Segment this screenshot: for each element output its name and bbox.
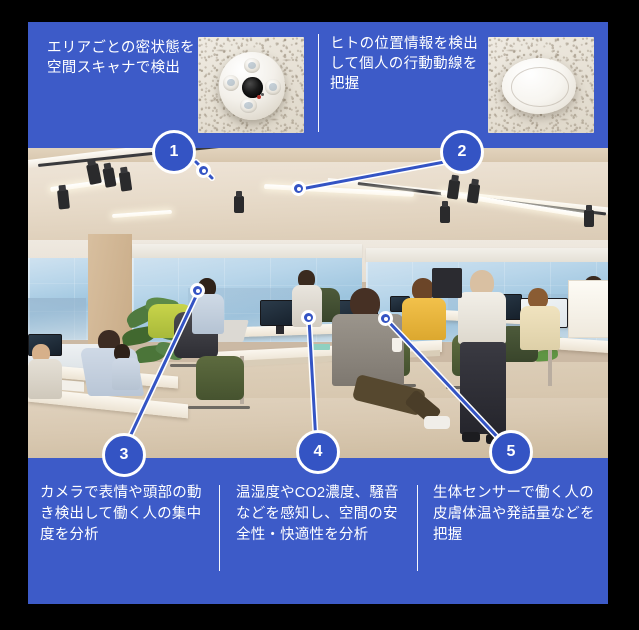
marker-dot-3[interactable] <box>190 283 205 298</box>
bottom-item-4-text: 温湿度やCO2濃度、騒音などを感知し、空間の安全性・快適性を分析 <box>236 483 406 546</box>
top-item-2-text: ヒトの位置情報を検出して個人の行動動線を把握 <box>330 34 482 94</box>
paper-cup <box>392 338 402 352</box>
chair-base <box>188 406 250 409</box>
bottom-item-3-text: カメラで表情や頭部の動き検出して働く人の集中度を分析 <box>40 483 210 546</box>
marker-circle-2[interactable]: 2 <box>440 130 484 174</box>
marker-circle-4[interactable]: 4 <box>296 430 340 474</box>
window-blind <box>132 244 362 258</box>
marker-dot-4[interactable] <box>301 310 316 325</box>
wall-poster <box>568 280 608 338</box>
sensor-lobe <box>244 58 260 73</box>
spotlight <box>234 196 244 213</box>
modern-office-interior-photo <box>28 148 608 458</box>
led-indicator <box>261 93 264 96</box>
marker-circle-3[interactable]: 3 <box>102 433 146 477</box>
divider-bottom-right <box>417 485 418 571</box>
marker-circle-5[interactable]: 5 <box>489 430 533 474</box>
bottom-item-5-text: 生体センサーで働く人の皮膚体温や発話量などを把握 <box>433 483 598 546</box>
spotlight <box>584 210 594 227</box>
sensor-lobe <box>223 75 239 91</box>
ceiling-position-sensor-photo <box>488 37 594 133</box>
led-indicator <box>257 95 261 99</box>
divider-bottom-left <box>219 485 220 571</box>
desk-item <box>308 344 330 350</box>
disc-sensor-body <box>502 58 576 114</box>
ceiling-space-scanner-sensor-photo <box>198 37 304 133</box>
spotlight <box>440 206 450 223</box>
monitor-stand <box>276 326 284 334</box>
office-chair <box>196 356 244 400</box>
marker-dot-1[interactable] <box>196 163 211 178</box>
marker-dot-5[interactable] <box>378 311 393 326</box>
marker-dot-2[interactable] <box>291 181 306 196</box>
infographic-root: エリアごとの密状態を空間スキャナで検出 ヒトの位置情報を検出して個人の行動動線を… <box>0 0 639 630</box>
top-item-1-text: エリアごとの密状態を空間スキャナで検出 <box>47 38 197 78</box>
divider-top <box>318 34 319 132</box>
desk-leg <box>548 344 552 386</box>
dome-sensor-body <box>219 52 285 119</box>
marker-circle-1[interactable]: 1 <box>152 130 196 174</box>
window-blind <box>366 248 608 262</box>
sensor-lobe <box>240 98 257 113</box>
monitor <box>432 268 462 298</box>
spotlight <box>57 189 70 209</box>
sensor-lobe <box>265 79 281 94</box>
